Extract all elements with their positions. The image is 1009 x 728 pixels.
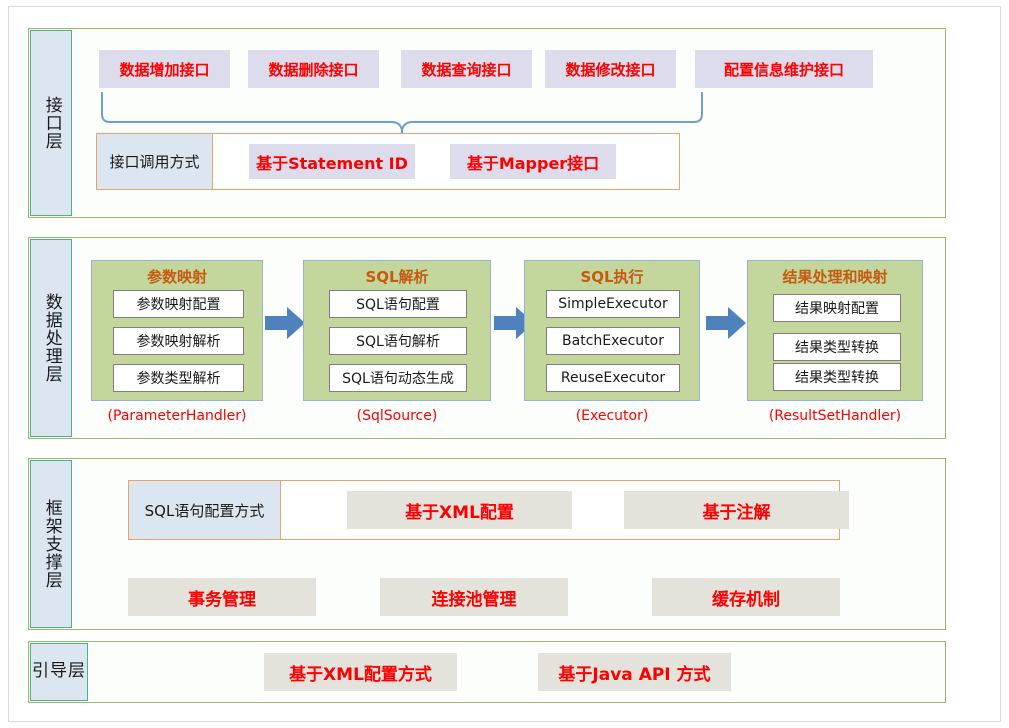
stage-item[interactable]: BatchExecutor bbox=[546, 327, 680, 355]
stage-caption-result-set-handler: (ResultSetHandler) bbox=[747, 408, 923, 424]
framework-layer-label: 框架支撑层 bbox=[30, 460, 72, 628]
call-option-statement-id[interactable]: 基于Statement ID bbox=[249, 144, 415, 179]
bootstrap-item-xml[interactable]: 基于XML配置方式 bbox=[264, 653, 457, 691]
bootstrap-item-java-api[interactable]: 基于Java API 方式 bbox=[538, 653, 731, 691]
api-chip-data-query[interactable]: 数据查询接口 bbox=[401, 50, 532, 88]
sql-config-key: SQL语句配置方式 bbox=[129, 481, 281, 539]
interface-call-key: 接口调用方式 bbox=[97, 134, 213, 189]
api-chip-config-maintain[interactable]: 配置信息维护接口 bbox=[695, 50, 873, 88]
stage-item[interactable]: 结果类型转换 bbox=[773, 333, 901, 361]
interface-call-row: 接口调用方式 基于Statement ID 基于Mapper接口 bbox=[96, 133, 680, 190]
api-chip-data-modify[interactable]: 数据修改接口 bbox=[545, 50, 676, 88]
stage-box-parameter-mapping: 参数映射 参数映射配置 参数映射解析 参数类型解析 bbox=[91, 260, 263, 401]
stage-item[interactable]: SQL语句解析 bbox=[329, 327, 467, 355]
stage-item[interactable]: 参数映射解析 bbox=[113, 327, 244, 355]
stage-box-sql-parse: SQL解析 SQL语句配置 SQL语句解析 SQL语句动态生成 bbox=[303, 260, 491, 401]
stage-item[interactable]: 结果类型转换 bbox=[773, 363, 901, 391]
stage-title-parameter-mapping: 参数映射 bbox=[92, 266, 262, 287]
support-item-cache[interactable]: 缓存机制 bbox=[652, 578, 840, 616]
sql-config-option-xml[interactable]: 基于XML配置 bbox=[347, 491, 572, 529]
stage-title-sql-parse: SQL解析 bbox=[304, 266, 490, 287]
stage-box-result-handling: 结果处理和映射 结果映射配置 结果类型转换 结果类型转换 bbox=[747, 260, 923, 401]
stage-item[interactable]: 参数类型解析 bbox=[113, 364, 244, 392]
bootstrap-layer-label: 引导层 bbox=[30, 643, 88, 701]
stage-box-sql-execute: SQL执行 SimpleExecutor BatchExecutor Reuse… bbox=[524, 260, 700, 401]
stage-caption-executor: (Executor) bbox=[524, 408, 700, 424]
support-item-connection-pool[interactable]: 连接池管理 bbox=[380, 578, 568, 616]
stage-item[interactable]: ReuseExecutor bbox=[546, 364, 680, 392]
sql-config-row: SQL语句配置方式 基于XML配置 基于注解 bbox=[128, 480, 840, 540]
stage-title-sql-execute: SQL执行 bbox=[525, 266, 699, 287]
support-item-transaction[interactable]: 事务管理 bbox=[128, 578, 316, 616]
stage-item[interactable]: SQL语句动态生成 bbox=[329, 364, 467, 392]
stage-caption-sql-source: (SqlSource) bbox=[303, 408, 491, 424]
stage-item[interactable]: 参数映射配置 bbox=[113, 290, 244, 318]
api-chip-data-delete[interactable]: 数据删除接口 bbox=[248, 50, 379, 88]
sql-config-option-annotation[interactable]: 基于注解 bbox=[624, 491, 849, 529]
interface-layer-label: 接口层 bbox=[30, 30, 72, 216]
stage-item[interactable]: SimpleExecutor bbox=[546, 290, 680, 318]
right-arrow-icon bbox=[265, 305, 305, 341]
right-arrow-icon bbox=[706, 305, 746, 341]
stage-caption-parameter-handler: (ParameterHandler) bbox=[91, 408, 263, 424]
data-process-layer-label: 数据处理层 bbox=[30, 239, 72, 437]
api-chip-data-add[interactable]: 数据增加接口 bbox=[99, 50, 230, 88]
call-option-mapper-interface[interactable]: 基于Mapper接口 bbox=[450, 144, 616, 179]
diagram-canvas: 接口层 数据增加接口 数据删除接口 数据查询接口 数据修改接口 配置信息维护接口… bbox=[0, 0, 1009, 728]
stage-item[interactable]: 结果映射配置 bbox=[773, 294, 901, 322]
stage-title-result-handling: 结果处理和映射 bbox=[748, 266, 922, 287]
stage-item[interactable]: SQL语句配置 bbox=[329, 290, 467, 318]
bootstrap-layer-section bbox=[28, 641, 946, 703]
